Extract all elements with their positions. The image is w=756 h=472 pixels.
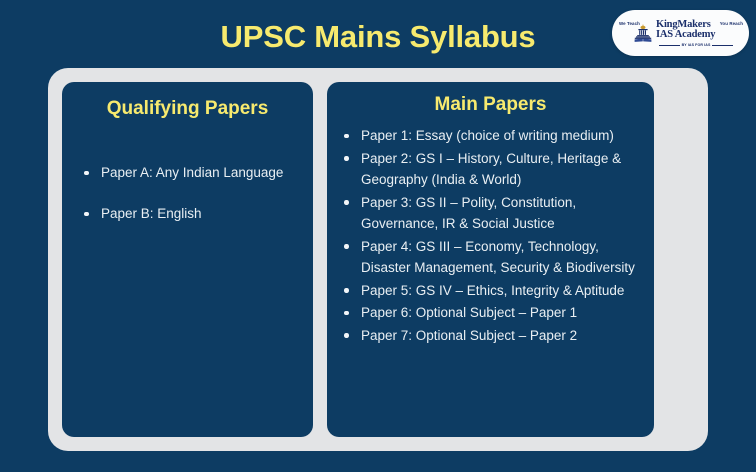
list-item: Paper 7: Optional Subject – Paper 2 [340,325,646,347]
syllabus-card: Qualifying Papers Paper A: Any Indian La… [48,68,708,451]
list-item: Paper 2: GS I – History, Culture, Herita… [340,148,646,191]
temple-building-icon [633,23,653,43]
panel-qualifying-title: Qualifying Papers [62,98,313,120]
list-item: Paper 3: GS II – Polity, Constitution, G… [340,192,646,235]
logo-line-2: IAS Academy [656,30,744,40]
logo-wordmark: KingMakers IAS Academy [656,20,744,40]
logo-ribbon: BY IAS FOR IAS [659,42,733,48]
ribbon-rule-left [659,45,680,46]
panel-qualifying-papers: Qualifying Papers Paper A: Any Indian La… [62,82,313,437]
list-item: Paper B: English [80,205,313,223]
academy-logo: We Teach You Reach [612,10,749,56]
list-item: Paper 4: GS III – Economy, Technology, D… [340,236,646,279]
list-item: Paper 5: GS IV – Ethics, Integrity & Apt… [340,280,646,302]
ribbon-rule-right [712,45,733,46]
list-item: Paper A: Any Indian Language [80,164,313,182]
main-papers-list: Paper 1: Essay (choice of writing medium… [327,125,654,346]
panel-main-title: Main Papers [327,94,654,116]
list-item: Paper 6: Optional Subject – Paper 1 [340,302,646,324]
panel-main-papers: Main Papers Paper 1: Essay (choice of wr… [327,82,654,437]
header: UPSC Mains Syllabus We Teach You Reach [0,0,756,68]
qualifying-papers-list: Paper A: Any Indian Language Paper B: En… [62,164,313,223]
list-item: Paper 1: Essay (choice of writing medium… [340,125,646,147]
logo-ribbon-text: BY IAS FOR IAS [680,43,713,47]
